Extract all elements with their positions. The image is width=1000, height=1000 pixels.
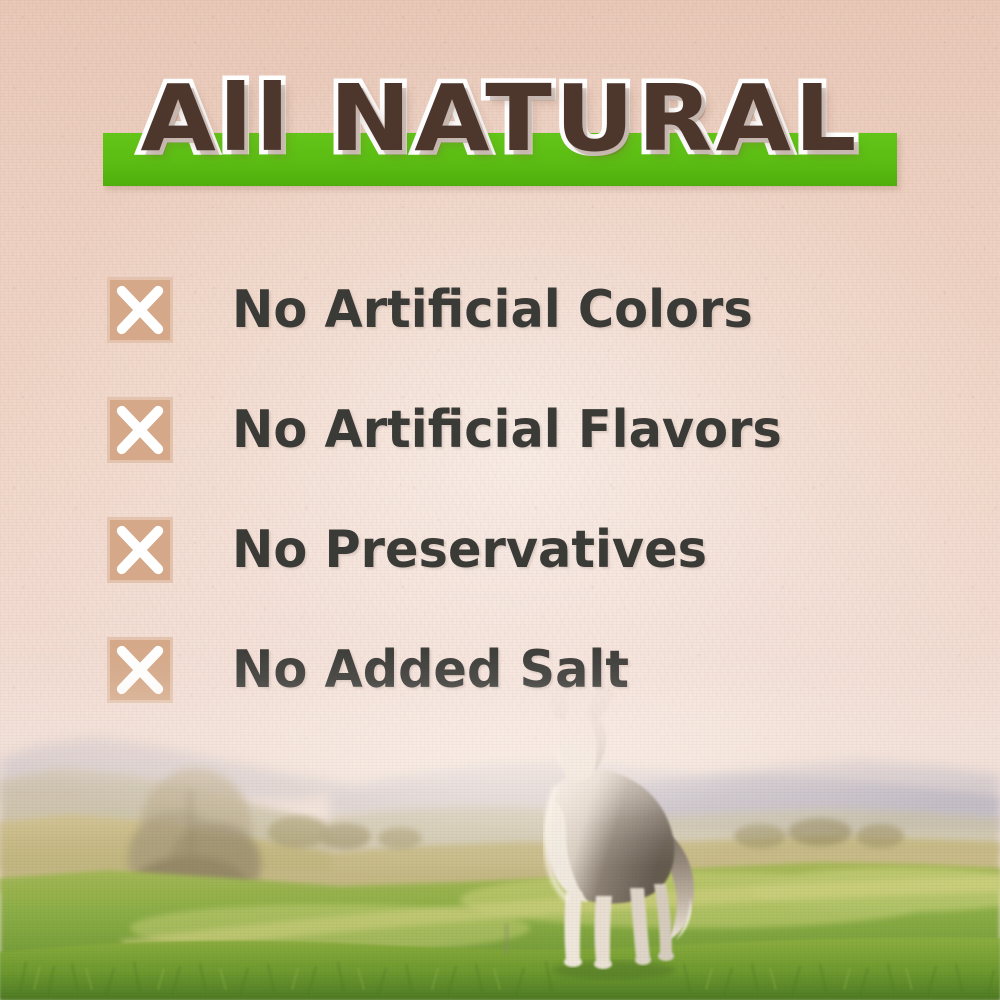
x-mark-icon — [107, 517, 173, 583]
x-mark-icon — [107, 397, 173, 463]
header-banner: All NATURAL — [0, 60, 1000, 210]
feature-label: No Artificial Colors — [232, 284, 753, 336]
list-item: No Artificial Colors — [107, 250, 937, 370]
x-mark-icon — [107, 277, 173, 343]
page-title: All NATURAL — [0, 60, 1000, 178]
feature-label: No Artificial Flavors — [232, 404, 782, 456]
feature-label: No Preservatives — [232, 524, 707, 576]
list-item: No Preservatives — [107, 490, 937, 610]
list-item: No Artificial Flavors — [107, 370, 937, 490]
all-natural-feature-panel: All NATURAL No Artificia — [0, 0, 1000, 1000]
landscape-photo — [0, 640, 1000, 1000]
